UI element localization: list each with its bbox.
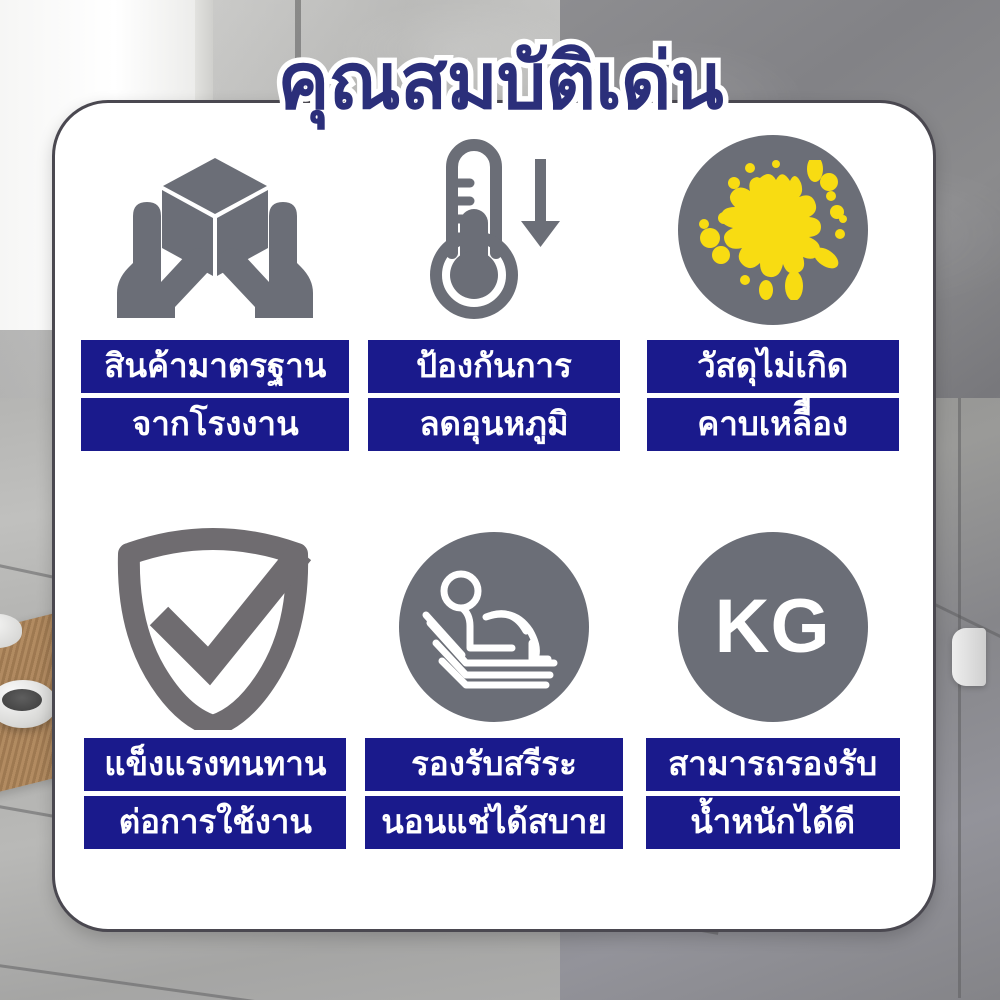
kg-label: KG (715, 589, 831, 665)
feature-label-line2: ลดอุนหภูมิ (368, 398, 620, 451)
feature-item-no-yellowing[interactable]: วัสดุไม่เกิด คาบเหลืือง (633, 124, 912, 518)
hands-holding-box-icon (76, 124, 355, 336)
feature-label-line1: รองรับสรีระ (365, 738, 623, 791)
grey-circle-badge (399, 532, 589, 722)
poster-stage: คุณสมบัติเด่น (0, 0, 1000, 1000)
feature-grid: สินค้ามาตรฐาน จากโรงงาน (52, 100, 936, 932)
feature-labels: แข็งแรงทนทาน ต่อการใช้งาน (84, 738, 346, 849)
thermometer-down-arrow-icon (355, 124, 634, 336)
wall-grout-line (958, 398, 961, 998)
feature-label-line1: ป้องกันการ (368, 340, 620, 393)
feature-item-weight-capacity[interactable]: KG สามารถรองรับ น้ำหนักได้ดี (633, 518, 912, 912)
feature-item-temperature[interactable]: ป้องกันการ ลดอุนหภูมิ (355, 124, 634, 518)
feature-label-line2: จากโรงงาน (81, 398, 349, 451)
feature-item-ergonomic[interactable]: รองรับสรีระ นอนแช่ได้สบาย (355, 518, 634, 912)
feature-labels: สินค้ามาตรฐาน จากโรงงาน (81, 340, 349, 451)
feature-label-line1: วัสดุไม่เกิด (647, 340, 899, 393)
shield-checkmark-icon (76, 518, 355, 736)
feature-labels: ป้องกันการ ลดอุนหภูมิ (368, 340, 620, 451)
feature-labels: รองรับสรีระ นอนแช่ได้สบาย (365, 738, 623, 849)
feature-label-line1: สินค้ามาตรฐาน (81, 340, 349, 393)
feature-label-line1: แข็งแรงทนทาน (84, 738, 346, 791)
grey-circle-badge: KG (678, 532, 868, 722)
feature-item-durability[interactable]: แข็งแรงทนทาน ต่อการใช้งาน (76, 518, 355, 912)
wall-fixture (952, 628, 986, 686)
feature-label-line2: นอนแช่ได้สบาย (365, 796, 623, 849)
feature-label-line2: ต่อการใช้งาน (84, 796, 346, 849)
feature-label-line2: น้ำหนักได้ดี (646, 796, 900, 849)
feature-label-line2: คาบเหลืือง (647, 398, 899, 451)
feature-labels: วัสดุไม่เกิด คาบเหลืือง (647, 340, 899, 451)
yellow-paint-splat-circle-icon (633, 124, 912, 336)
kg-weight-circle-icon: KG (633, 518, 912, 736)
feature-label-line1: สามารถรองรับ (646, 738, 900, 791)
page-title: คุณสมบัติเด่น (0, 42, 1000, 120)
feature-item-standard-product[interactable]: สินค้ามาตรฐาน จากโรงงาน (76, 124, 355, 518)
feature-labels: สามารถรองรับ น้ำหนักได้ดี (646, 738, 900, 849)
person-reclining-bed-circle-icon (355, 518, 634, 736)
ceramic-bowl (0, 680, 56, 728)
grey-circle-badge (678, 135, 868, 325)
